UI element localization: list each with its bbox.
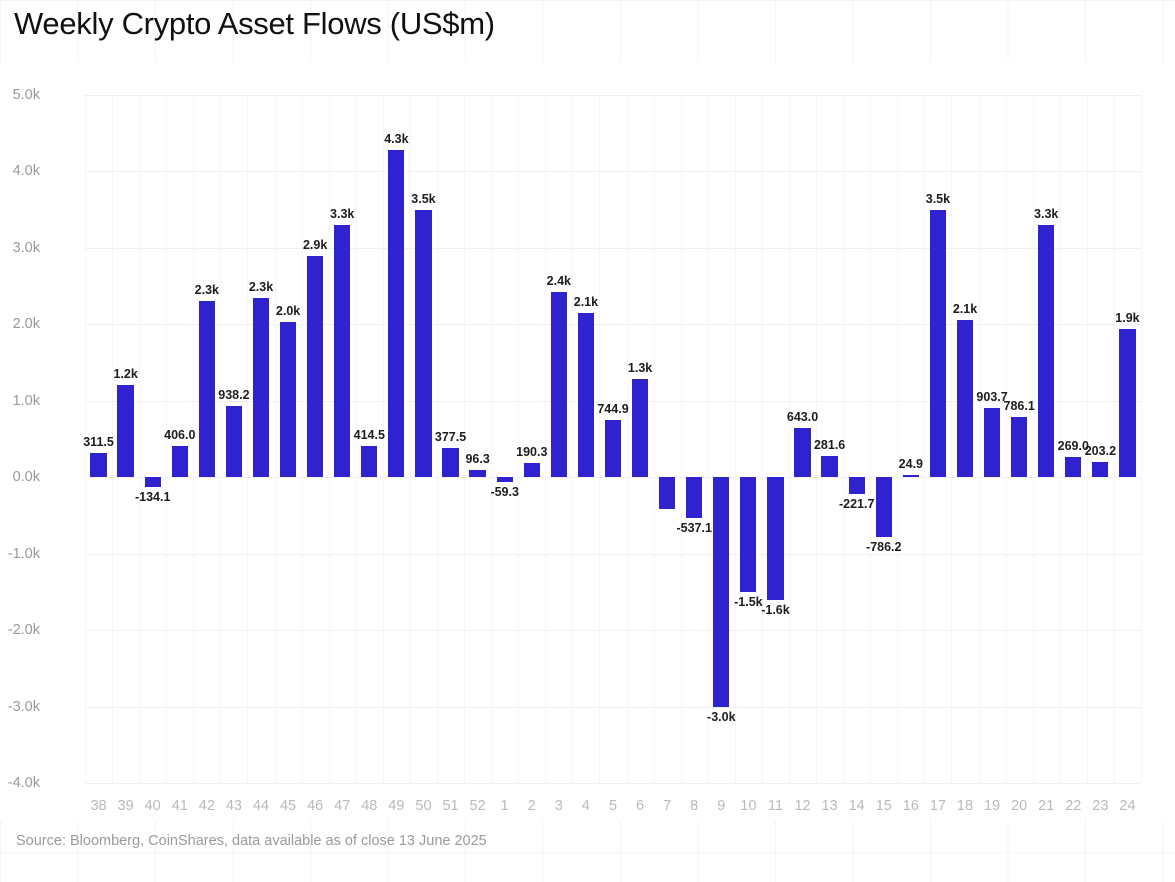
bar[interactable]	[280, 322, 296, 477]
bar[interactable]	[849, 477, 865, 494]
bar[interactable]	[1092, 462, 1108, 478]
bar[interactable]	[578, 313, 594, 477]
bar-value-label: -1.5k	[734, 595, 763, 609]
y-axis-tick-label: 1.0k	[0, 393, 40, 409]
gridline	[85, 324, 1141, 325]
vertical-gridline	[572, 95, 573, 783]
x-axis-tick-label: 6	[636, 798, 644, 814]
x-axis-tick-label: 11	[768, 798, 783, 814]
plot-wrapper: 5.0k4.0k3.0k2.0k1.0k0.0k-1.0k-2.0k-3.0k-…	[0, 62, 1175, 802]
bar-value-label: -1.6k	[761, 603, 790, 617]
vertical-gridline	[1141, 95, 1142, 783]
vertical-gridline	[491, 95, 492, 783]
bar-value-label: 190.3	[516, 445, 547, 459]
bar-value-label: 414.5	[354, 428, 385, 442]
x-axis-tick-label: 21	[1038, 798, 1054, 814]
vertical-gridline	[654, 95, 655, 783]
bar[interactable]	[659, 477, 675, 509]
bar-value-label: 2.9k	[303, 238, 327, 252]
x-axis-tick-label: 3	[555, 798, 563, 814]
vertical-gridline	[681, 95, 682, 783]
bar[interactable]	[442, 448, 458, 477]
bar-value-label: 281.6	[814, 438, 845, 452]
x-axis-tick-label: 38	[90, 798, 106, 814]
x-axis-tick-label: 12	[794, 798, 810, 814]
vertical-gridline	[627, 95, 628, 783]
vertical-gridline	[275, 95, 276, 783]
x-axis-tick-label: 39	[118, 798, 134, 814]
bar-value-label: 2.1k	[953, 302, 977, 316]
bar-value-label: 1.3k	[628, 361, 652, 375]
x-axis-tick-label: 50	[415, 798, 431, 814]
bar-value-label: -786.2	[866, 540, 901, 554]
bar-value-label: 1.9k	[1115, 311, 1139, 325]
bar[interactable]	[388, 150, 404, 477]
y-axis-tick-label: -3.0k	[0, 699, 40, 715]
gridline	[85, 95, 1141, 96]
x-axis-tick-label: 40	[145, 798, 161, 814]
bar-value-label: 4.3k	[384, 132, 408, 146]
x-axis-tick-label: 16	[903, 798, 919, 814]
bar[interactable]	[253, 298, 269, 477]
y-axis-tick-label: 2.0k	[0, 316, 40, 332]
bar-value-label: 744.9	[597, 402, 628, 416]
x-axis-tick-label: 47	[334, 798, 350, 814]
x-axis-tick-label: 41	[172, 798, 188, 814]
x-axis-tick-label: 48	[361, 798, 377, 814]
bar[interactable]	[984, 408, 1000, 477]
vertical-gridline	[951, 95, 952, 783]
vertical-gridline	[1033, 95, 1034, 783]
plot-area: 5.0k4.0k3.0k2.0k1.0k0.0k-1.0k-2.0k-3.0k-…	[85, 95, 1141, 783]
vertical-gridline	[247, 95, 248, 783]
vertical-gridline	[1114, 95, 1115, 783]
vertical-gridline	[979, 95, 980, 783]
vertical-gridline	[897, 95, 898, 783]
bar-value-label: 938.2	[218, 388, 249, 402]
bar-value-label: 2.4k	[547, 274, 571, 288]
source-note: Source: Bloomberg, CoinShares, data avai…	[16, 833, 487, 849]
bar-value-label: 3.5k	[411, 192, 435, 206]
bar-value-label: -59.3	[490, 485, 519, 499]
bar[interactable]	[90, 453, 106, 477]
bar[interactable]	[1038, 225, 1054, 477]
gridline	[85, 248, 1141, 249]
y-axis-tick-label: 4.0k	[0, 163, 40, 179]
y-axis-tick-label: 5.0k	[0, 87, 40, 103]
y-axis-tick-label: -4.0k	[0, 775, 40, 791]
bar[interactable]	[226, 406, 242, 478]
bar[interactable]	[145, 477, 161, 487]
bar-value-label: 786.1	[1004, 399, 1035, 413]
gridline	[85, 707, 1141, 708]
gridline	[85, 630, 1141, 631]
bar[interactable]	[740, 477, 756, 592]
x-axis-tick-label: 18	[957, 798, 973, 814]
x-axis-tick-label: 13	[822, 798, 838, 814]
chart-page: Weekly Crypto Asset Flows (US$m) 5.0k4.0…	[0, 0, 1175, 882]
bar-value-label: 96.3	[465, 452, 489, 466]
bar[interactable]	[1065, 457, 1081, 478]
gridline	[85, 783, 1141, 784]
bar-value-label: 1.2k	[113, 367, 137, 381]
bar[interactable]	[957, 320, 973, 477]
x-axis-tick-label: 7	[663, 798, 671, 814]
bar[interactable]	[686, 477, 702, 518]
vertical-gridline	[518, 95, 519, 783]
x-axis-tick-label: 5	[609, 798, 617, 814]
bar[interactable]	[903, 475, 919, 477]
bar-value-label: -3.0k	[707, 710, 736, 724]
y-axis-tick-label: 0.0k	[0, 469, 40, 485]
bar[interactable]	[199, 301, 215, 477]
bar[interactable]	[334, 225, 350, 477]
bar[interactable]	[497, 477, 513, 482]
x-axis-tick-label: 2	[528, 798, 536, 814]
x-axis-tick-label: 22	[1065, 798, 1081, 814]
bar-value-label: 2.0k	[276, 304, 300, 318]
vertical-gridline	[870, 95, 871, 783]
vertical-gridline	[789, 95, 790, 783]
bar-value-label: 311.5	[83, 435, 114, 449]
x-axis-tick-label: 10	[740, 798, 756, 814]
bar[interactable]	[415, 210, 431, 478]
bar-value-label: 2.3k	[249, 280, 273, 294]
bar[interactable]	[930, 210, 946, 478]
bar[interactable]	[821, 456, 837, 478]
bar-value-label: 3.3k	[1034, 207, 1058, 221]
bar[interactable]	[876, 477, 892, 537]
bar-value-label: 2.3k	[195, 283, 219, 297]
gridline	[85, 554, 1141, 555]
vertical-gridline	[302, 95, 303, 783]
y-axis-tick-label: -2.0k	[0, 622, 40, 638]
page-title: Weekly Crypto Asset Flows (US$m)	[14, 6, 495, 42]
x-axis-tick-label: 9	[717, 798, 725, 814]
bar-value-label: 643.0	[787, 410, 818, 424]
vertical-gridline	[545, 95, 546, 783]
x-axis-tick-label: 43	[226, 798, 242, 814]
x-axis-tick-label: 19	[984, 798, 1000, 814]
bar[interactable]	[1119, 329, 1135, 477]
x-axis-tick-label: 1	[501, 798, 509, 814]
gridline	[85, 171, 1141, 172]
bar-value-label: 377.5	[435, 430, 466, 444]
bar-value-label: 406.0	[164, 428, 195, 442]
vertical-gridline	[329, 95, 330, 783]
bar-value-label: 3.5k	[926, 192, 950, 206]
bar-value-label: 2.1k	[574, 295, 598, 309]
bar[interactable]	[713, 477, 729, 706]
vertical-gridline	[735, 95, 736, 783]
x-axis-tick-label: 8	[690, 798, 698, 814]
x-axis-tick-label: 23	[1092, 798, 1108, 814]
bar[interactable]	[794, 428, 810, 477]
x-axis-tick-label: 51	[442, 798, 458, 814]
x-axis-tick-label: 44	[253, 798, 269, 814]
bar-value-label: -537.1	[676, 521, 711, 535]
x-axis-tick-label: 17	[930, 798, 946, 814]
x-axis-tick-label: 20	[1011, 798, 1027, 814]
bar[interactable]	[767, 477, 783, 599]
bar[interactable]	[524, 463, 540, 478]
vertical-gridline	[762, 95, 763, 783]
y-axis-tick-label: -1.0k	[0, 546, 40, 562]
vertical-gridline	[708, 95, 709, 783]
bar-value-label: -134.1	[135, 490, 170, 504]
x-axis-tick-label: 52	[470, 798, 486, 814]
bar-value-label: 203.2	[1085, 444, 1116, 458]
x-axis-tick-label: 15	[876, 798, 892, 814]
y-axis-tick-label: 3.0k	[0, 240, 40, 256]
bar[interactable]	[551, 292, 567, 477]
x-axis-tick-label: 42	[199, 798, 215, 814]
vertical-gridline	[220, 95, 221, 783]
bar-value-label: 3.3k	[330, 207, 354, 221]
bar[interactable]	[172, 446, 188, 477]
x-axis-tick-label: 46	[307, 798, 323, 814]
bar[interactable]	[1011, 417, 1027, 477]
bar[interactable]	[307, 256, 323, 478]
x-axis-tick-label: 24	[1119, 798, 1135, 814]
gridline	[85, 477, 1141, 478]
x-axis-tick-label: 14	[849, 798, 865, 814]
bar[interactable]	[632, 379, 648, 477]
bar-value-label: 24.9	[899, 457, 923, 471]
x-axis-tick-label: 49	[388, 798, 404, 814]
vertical-gridline	[139, 95, 140, 783]
bar[interactable]	[605, 420, 621, 477]
bar[interactable]	[469, 470, 485, 477]
bar[interactable]	[117, 385, 133, 477]
vertical-gridline	[599, 95, 600, 783]
bar-value-label: -221.7	[839, 497, 874, 511]
x-axis-tick-label: 4	[582, 798, 590, 814]
x-axis-tick-label: 45	[280, 798, 296, 814]
vertical-gridline	[1006, 95, 1007, 783]
bar[interactable]	[361, 446, 377, 478]
